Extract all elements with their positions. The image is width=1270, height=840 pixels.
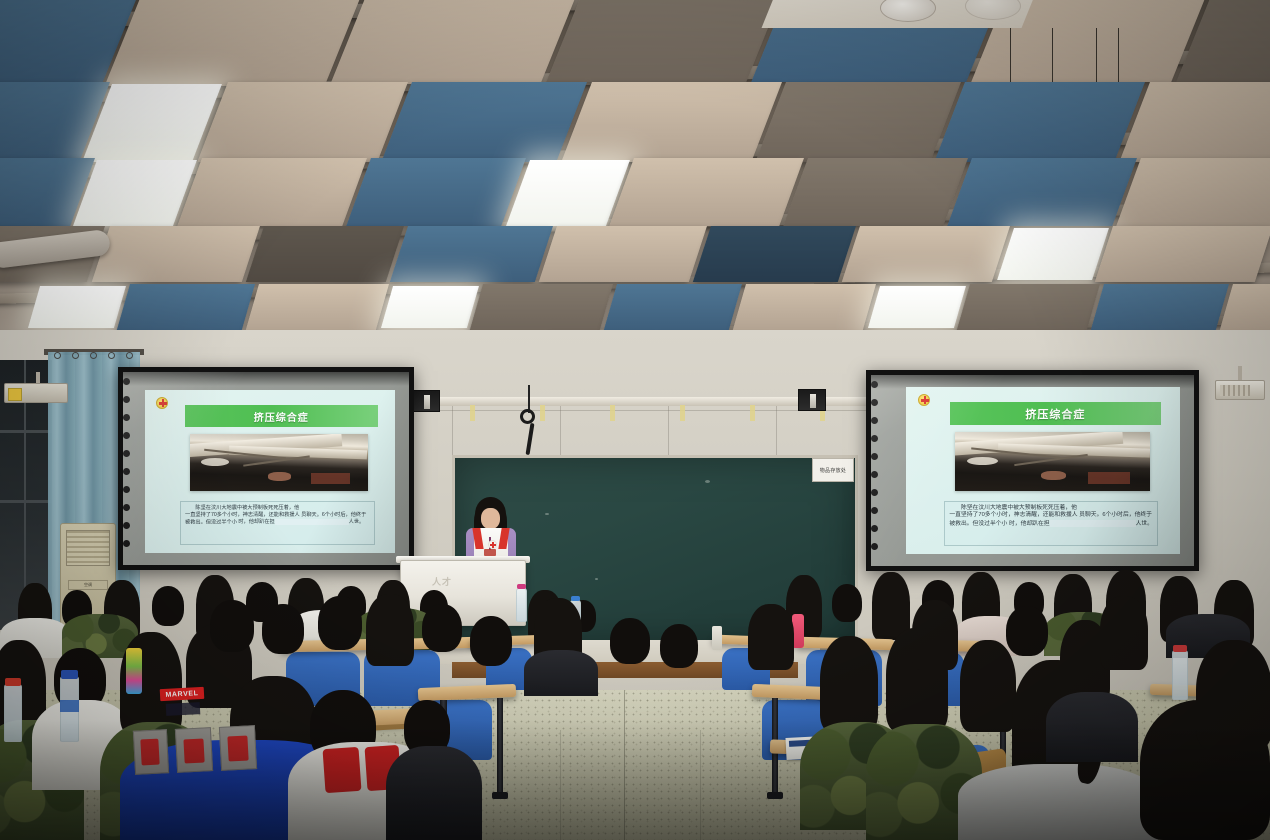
slide-title: 挤压综合症 <box>185 405 378 428</box>
ceiling-light <box>997 228 1109 280</box>
slide-photo <box>190 434 368 491</box>
microphone-head-icon <box>520 409 535 424</box>
wall-speaker-left <box>412 390 440 412</box>
wood-skirting <box>452 662 798 678</box>
wall-speaker-right <box>798 389 826 411</box>
slide-title: 挤压综合症 <box>950 402 1161 425</box>
ceiling-light <box>381 286 479 328</box>
red-cross-emblem-icon <box>488 540 497 549</box>
presenter-face <box>481 508 500 529</box>
ceiling-projector-right <box>1215 380 1265 400</box>
lecture-hall-photo: 空调 物品存放处 挤压综合症 <box>0 0 1270 840</box>
presenter <box>462 497 520 563</box>
lectern <box>400 560 526 626</box>
slide-content: 挤压综合症 陈坚在汶川大地震中被大预制板死死压着，他 一直坚持了70多个小时，神… <box>145 390 395 553</box>
caption-line-4b: 人世。 <box>1136 521 1153 527</box>
caption-line-4a: 时，他却趴在担 <box>1009 521 1050 527</box>
right-projection-screen[interactable]: 挤压综合症 陈坚在汶川大地震中被大预制板死死压着，他 一直坚持了70多个小时，神… <box>866 370 1199 571</box>
slide-caption: 陈坚在汶川大地震中被大预制板死死压着，他 一直坚持了70多个小时，神志清醒，还能… <box>944 501 1158 546</box>
caption-line-1: 陈坚在汶川大地震中被大预制板死死压着，他 <box>185 505 370 512</box>
red-cross-logo <box>156 397 168 409</box>
storage-notice-sign: 物品存放处 <box>812 458 854 482</box>
ceiling-light <box>28 286 126 328</box>
ceiling <box>0 0 1270 370</box>
ceiling-projector-left <box>4 383 68 403</box>
front-wall-base <box>430 640 820 664</box>
ceiling-light <box>506 160 630 226</box>
air-conditioner-grill <box>66 530 110 566</box>
caption-line-4b: 人世。 <box>349 519 365 525</box>
caption-line-2: 一直坚持了70多个小时，神志清醒，还能和救援人 <box>185 512 300 518</box>
slide-content: 挤压综合症 陈坚在汶川大地震中被大预制板死死压着，他 一直坚持了70多个小时，神… <box>906 387 1180 554</box>
slide-caption: 陈坚在汶川大地震中被大预制板死死压着，他 一直坚持了70多个小时，神志清醒，还能… <box>180 501 375 545</box>
redacted-text <box>1050 520 1136 527</box>
slide-photo <box>955 432 1150 490</box>
caption-line-2: 一直坚持了70多个小时，神志清醒，还能和救援人 <box>949 512 1077 518</box>
left-projection-screen[interactable]: 挤压综合症 陈坚在汶川大地震中被大预制板死死压着，他 一直坚持了70多个小时，神… <box>118 367 414 570</box>
air-conditioner-label: 空调 <box>68 580 108 590</box>
lectern-mark: 人才 <box>432 575 452 588</box>
ceiling-light <box>868 286 966 328</box>
redacted-text <box>275 519 349 525</box>
floor <box>0 690 1270 840</box>
caption-line-4a: 时，他却趴在担 <box>238 519 274 525</box>
red-cross-logo <box>918 394 930 406</box>
presenter-badge <box>484 549 496 556</box>
